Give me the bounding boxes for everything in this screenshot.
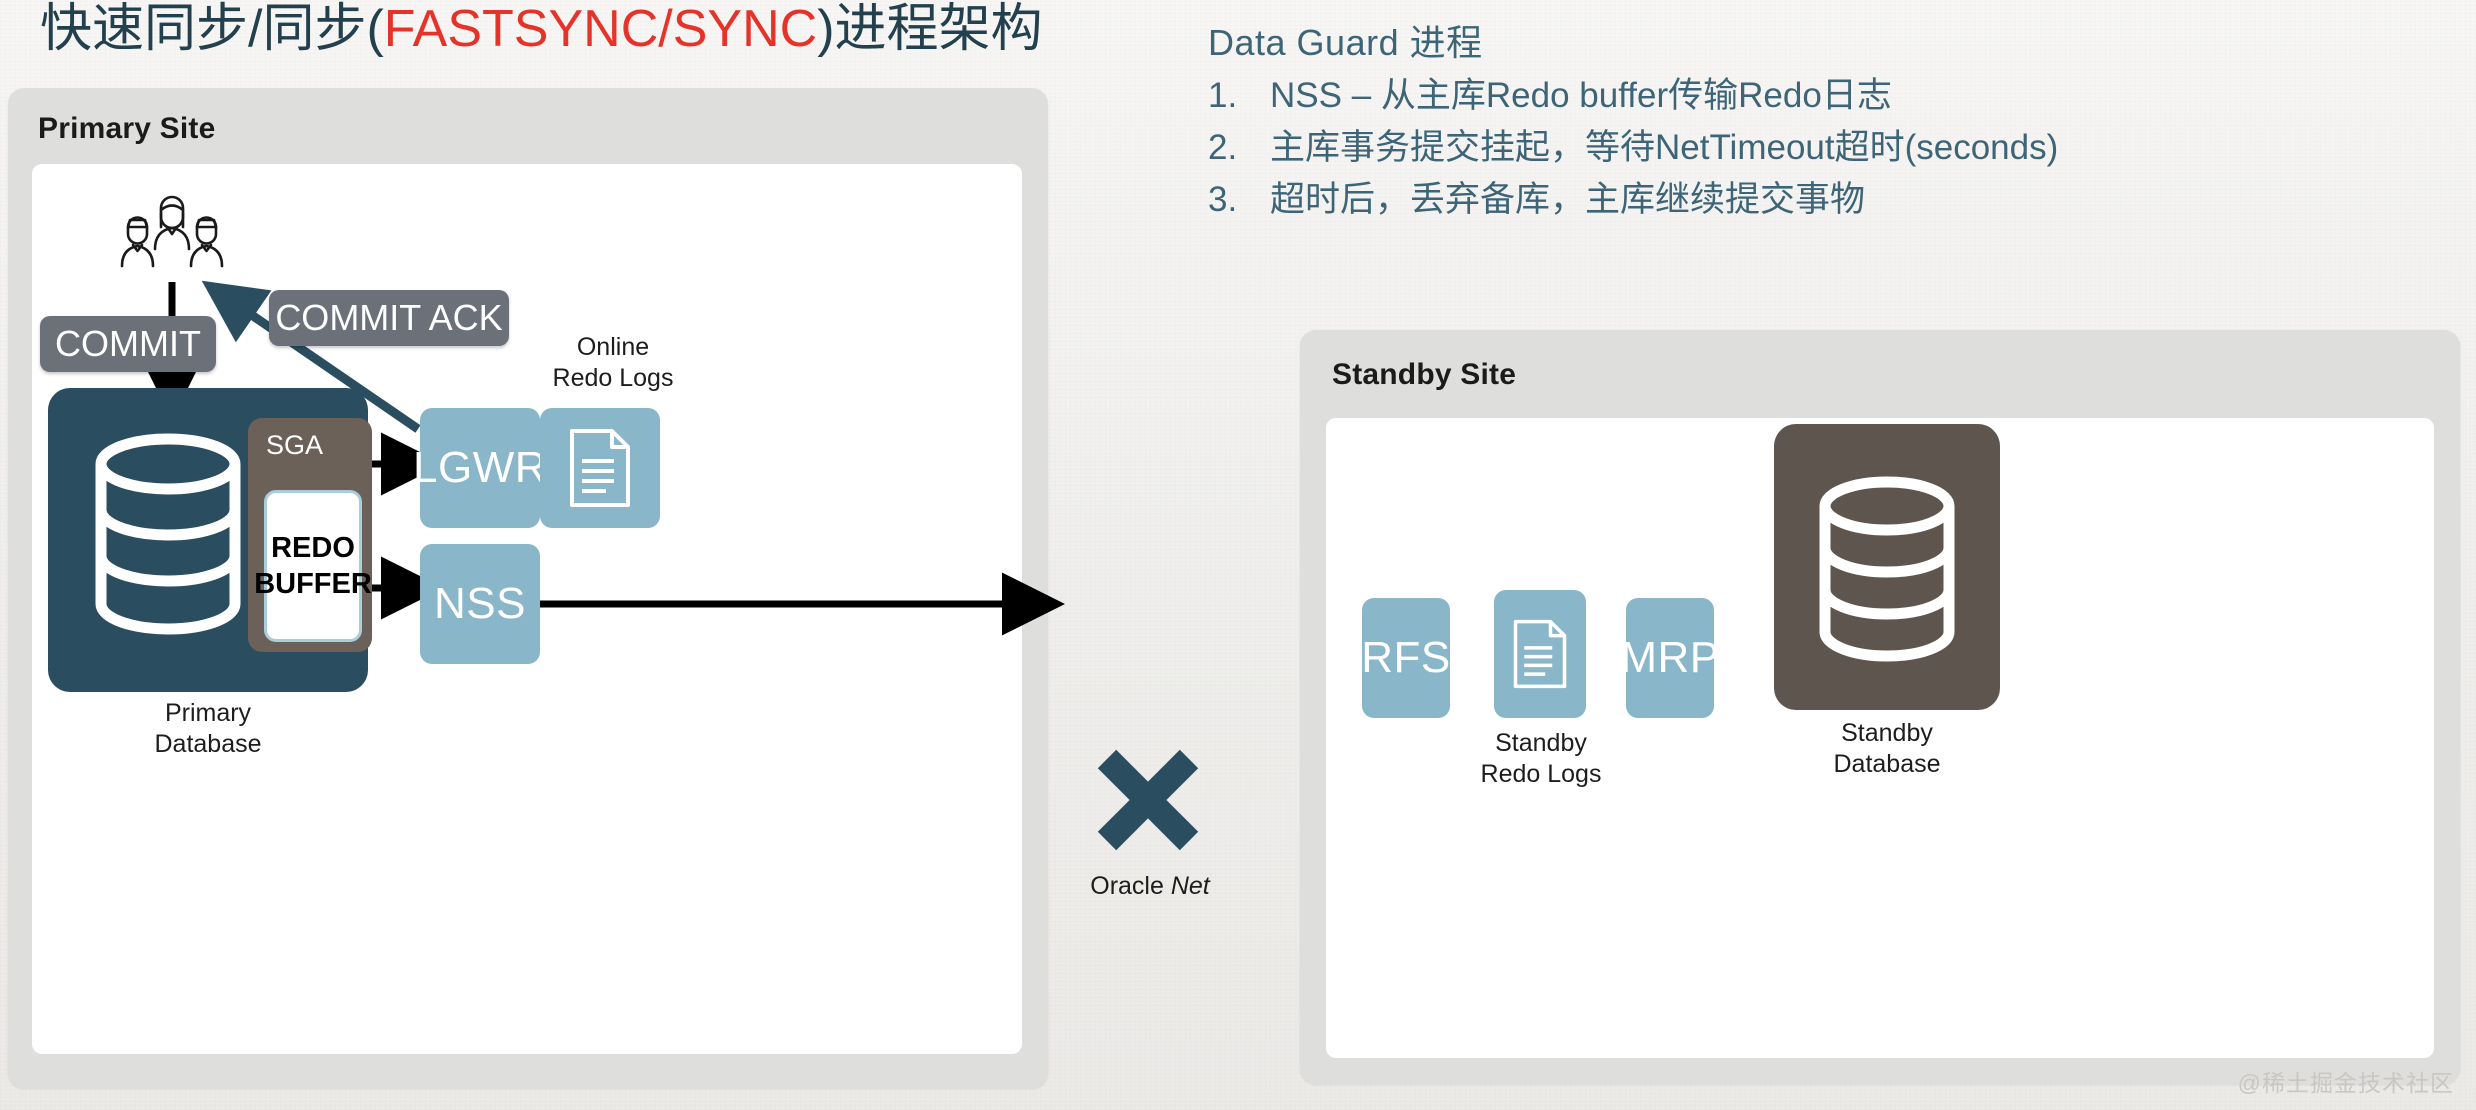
data-guard-item-1: 1. NSS – 从主库Redo buffer传输Redo日志: [1208, 70, 2468, 122]
x-blocked-icon: [1093, 745, 1203, 855]
primary-database-caption: Primary Database: [48, 698, 368, 760]
standby-database-caption: Standby Database: [1774, 718, 2000, 780]
title-part-1: 快速同步/同步(: [40, 0, 384, 58]
database-cylinder-icon: [1774, 424, 2000, 710]
standby-database-block: [1774, 424, 2000, 710]
title-part-2: )进程架构: [817, 0, 1042, 58]
title-highlight: FASTSYNC/SYNC: [384, 0, 817, 58]
caption-line-1: Standby: [1841, 719, 1933, 747]
standby-redo-logs-caption: Standby Redo Logs: [1466, 728, 1616, 790]
data-guard-notes: Data Guard 进程 1. NSS – 从主库Redo buffer传输R…: [1208, 20, 2468, 226]
document-lines-icon: [568, 427, 632, 509]
caption-line-2: Database: [154, 730, 261, 758]
document-lines-icon: [1512, 616, 1568, 692]
caption-line-1: Standby: [1495, 729, 1587, 757]
online-redo-logs-caption: Online Redo Logs: [528, 332, 698, 394]
list-text: 主库事务提交挂起，等待NetTimeout超时(seconds): [1270, 122, 2468, 174]
oracle-net-italic: Net: [1171, 872, 1210, 900]
nss-process-box[interactable]: NSS: [420, 544, 540, 664]
commit-ack-label-badge: COMMIT ACK: [269, 290, 509, 346]
primary-site-canvas: COMMIT COMMIT ACK SGA REDOBUFFE: [32, 164, 1022, 1054]
oracle-net-label: Oracle Net: [1020, 872, 1280, 901]
commit-label-badge: COMMIT: [40, 316, 216, 372]
data-guard-heading: Data Guard 进程: [1208, 20, 2468, 66]
caption-line-1: Online: [577, 333, 649, 361]
standby-site-canvas: RFS Standby Redo Logs MRP: [1326, 418, 2434, 1058]
standby-redo-logs-box[interactable]: [1494, 590, 1586, 718]
redo-buffer-line-1: REDO: [271, 532, 355, 564]
data-guard-item-2: 2. 主库事务提交挂起，等待NetTimeout超时(seconds): [1208, 122, 2468, 174]
lgwr-process-box[interactable]: LGWR: [420, 408, 540, 528]
caption-line-2: Redo Logs: [553, 364, 674, 392]
sga-label: SGA: [266, 430, 323, 461]
data-guard-item-3: 3. 超时后，丢弃备库，主库继续提交事物: [1208, 174, 2468, 226]
list-number: 1.: [1208, 70, 1270, 122]
standby-site-title: Standby Site: [1332, 358, 1516, 392]
caption-line-1: Primary: [165, 699, 251, 727]
primary-site-panel: Primary Site: [8, 88, 1048, 1088]
primary-site-title: Primary Site: [38, 112, 216, 146]
redo-buffer-box: REDOBUFFER: [264, 490, 362, 642]
online-redo-logs-box[interactable]: [540, 408, 660, 528]
oracle-net-plain: Oracle: [1090, 872, 1171, 900]
caption-line-2: Database: [1833, 750, 1940, 778]
redo-buffer-line-2: BUFFER: [254, 568, 372, 600]
rfs-process-box[interactable]: RFS: [1362, 598, 1450, 718]
mrp-process-box[interactable]: MRP: [1626, 598, 1714, 718]
page-title: 快速同步/同步(FASTSYNC/SYNC)进程架构: [40, 0, 1043, 60]
list-text: NSS – 从主库Redo buffer传输Redo日志: [1270, 70, 2468, 122]
list-text: 超时后，丢弃备库，主库继续提交事物: [1270, 174, 2468, 226]
standby-site-panel: Standby Site RFS Standby Redo Logs M: [1300, 330, 2460, 1084]
slide-canvas: 快速同步/同步(FASTSYNC/SYNC)进程架构 Data Guard 进程…: [0, 0, 2476, 1110]
watermark: @稀土掘金技术社区: [2238, 1064, 2454, 1098]
list-number: 3.: [1208, 174, 1270, 226]
caption-line-2: Redo Logs: [1481, 760, 1602, 788]
sga-box: SGA REDOBUFFER: [248, 418, 372, 652]
list-number: 2.: [1208, 122, 1270, 174]
users-group-icon: [112, 194, 232, 274]
